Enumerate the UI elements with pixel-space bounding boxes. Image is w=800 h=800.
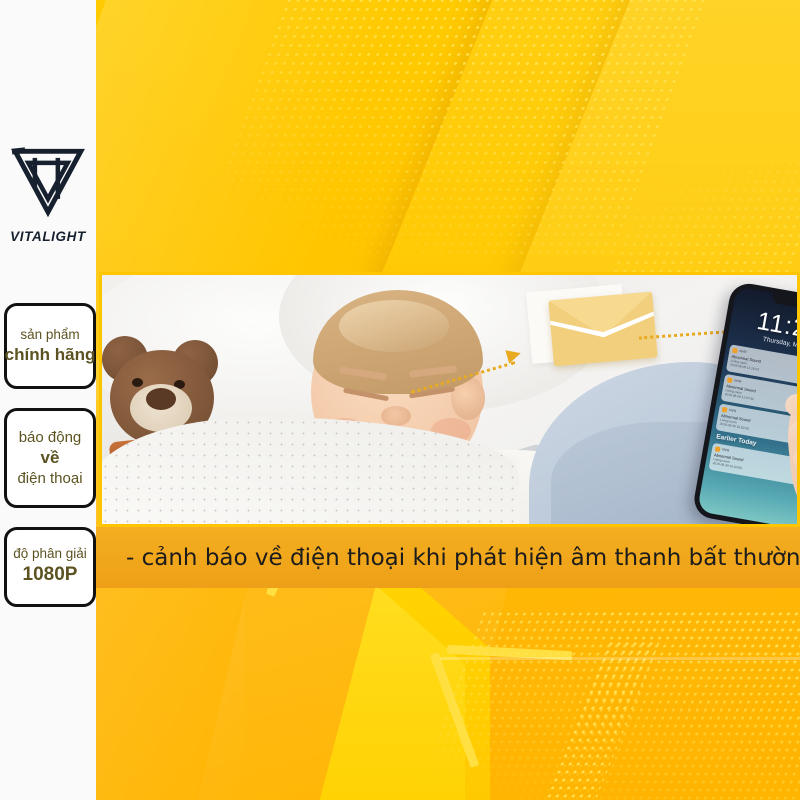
badge-2-line-3: điện thoại <box>17 469 82 489</box>
notification-list: NVR Abnormal Sound Living room 2018-05-0… <box>708 344 800 491</box>
badge-phone-alert: báo động về điện thoại <box>4 408 96 508</box>
baby-hair-highlight <box>339 300 449 352</box>
notification-app: NVR <box>739 349 747 354</box>
notification-app: NVR <box>734 379 742 384</box>
left-rail-bg <box>0 0 96 800</box>
badge-resolution: độ phân giải 1080P <box>4 527 96 607</box>
app-icon <box>727 377 733 383</box>
phone-notch <box>771 293 800 310</box>
badge-2-line-2: về <box>41 447 60 468</box>
band-edge-line <box>439 657 800 660</box>
brand-name: VITALIGHT <box>10 229 86 244</box>
app-icon <box>722 406 728 412</box>
badge-2-line-1: báo động <box>19 428 82 448</box>
badge-3-line-2: 1080P <box>23 563 78 588</box>
notification-app: NVR <box>729 408 737 413</box>
bear-eye-left <box>132 378 143 387</box>
bear-nose <box>146 388 176 410</box>
promo-banner: VITALIGHT sản phẩm chính hãng báo động v… <box>0 0 800 800</box>
caption-text: - cảnh báo về điện thoại khi phát hiện â… <box>126 545 800 571</box>
badge-1-line-2: chính hãng <box>5 344 96 365</box>
app-icon <box>715 446 721 452</box>
product-photo: 11:23 Thursday, May 9 NVR Abnormal Sound… <box>99 272 800 527</box>
left-rail: VITALIGHT sản phẩm chính hãng báo động v… <box>0 0 96 800</box>
baby-nose <box>381 406 411 426</box>
caption-band: - cảnh báo về điện thoại khi phát hiện â… <box>96 527 800 588</box>
notification-app: NVR <box>722 447 730 452</box>
badge-3-line-1: độ phân giải <box>13 546 87 563</box>
badge-authentic-product: sản phẩm chính hãng <box>4 303 96 389</box>
brand-logo: VITALIGHT <box>0 140 96 275</box>
badge-1-line-1: sản phẩm <box>20 327 79 344</box>
vitalight-triangle-logo-icon <box>7 140 89 225</box>
app-icon <box>732 347 738 353</box>
message-envelope-icon <box>548 292 657 367</box>
